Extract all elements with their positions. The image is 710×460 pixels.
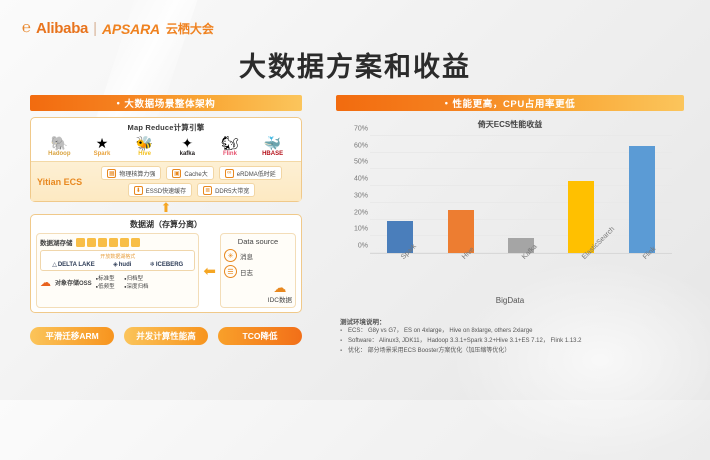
feature-label: eRDMA低时延 bbox=[237, 169, 276, 178]
bullet-icon: • bbox=[117, 98, 121, 108]
page-title: 大数据方案和收益 bbox=[0, 45, 710, 84]
chart-plot-area: 0%10%20%30%40%50%60%70% bbox=[370, 136, 672, 254]
feature-label: DDR5大带宽 bbox=[215, 186, 249, 195]
left-panel: • 大数据场景整体架构 Map Reduce计算引擎 🐘Hadoop★Spark… bbox=[30, 95, 302, 313]
benefit-tag-arm-migration[interactable]: 平滑迁移ARM bbox=[30, 327, 114, 345]
y-axis-tick: 70% bbox=[338, 126, 368, 133]
alibaba-mark-icon: ℮ bbox=[22, 20, 31, 37]
bar-column bbox=[373, 136, 427, 253]
format-glyph-icon: △ bbox=[52, 261, 57, 268]
data-source-icon: ✳ bbox=[224, 249, 237, 262]
format-logo-delta-lake: △DELTA LAKE bbox=[52, 261, 95, 268]
data-source-icon: ☰ bbox=[224, 265, 237, 278]
performance-chart: 倚天ECS性能收益 0%10%20%30%40%50%60%70% SparkH… bbox=[336, 119, 684, 319]
database-icon bbox=[98, 238, 107, 247]
hadoop-icon: 🐘 bbox=[51, 136, 68, 150]
engine-logo-kafka: ✦kafka bbox=[166, 136, 208, 157]
spark-icon: ★ bbox=[96, 136, 109, 150]
notes-title: 测试环境说明： bbox=[340, 316, 690, 326]
data-source-item: ✳消息 bbox=[224, 249, 292, 262]
data-lake-body: 数据湖存储 开放数据湖格式 △DELTA LAKE◈hudi❄ICEBERG bbox=[36, 233, 296, 308]
bar-column bbox=[615, 136, 669, 253]
note-item: Software： Alinux3, JDK11， Hadoop 3.3.1+S… bbox=[340, 338, 690, 346]
data-source-label: 消息 bbox=[240, 251, 253, 261]
feature-label: ESSD快速缓存 bbox=[146, 186, 186, 195]
open-format-title: 开放数据湖格式 bbox=[44, 253, 191, 260]
y-axis-tick: 30% bbox=[338, 192, 368, 199]
feature-icon: ⬇ bbox=[134, 186, 143, 195]
feature-icon: ≣ bbox=[203, 186, 212, 195]
oss-row: ☁ 对象存储OSS 标准型归档型低频型深度归档 bbox=[40, 274, 195, 290]
right-panel-header-label: 性能更高，CPU占用率更低 bbox=[452, 96, 575, 110]
engine-logo-label: kafka bbox=[180, 151, 195, 157]
right-panel-header: • 性能更高，CPU占用率更低 bbox=[336, 95, 684, 111]
open-format-row: △DELTA LAKE◈hudi❄ICEBERG bbox=[44, 261, 191, 268]
left-panel-header: • 大数据场景整体架构 bbox=[30, 95, 302, 111]
hbase-icon: 🐳 bbox=[264, 136, 281, 150]
data-lake-storage-panel: 数据湖存储 开放数据湖格式 △DELTA LAKE◈hudi❄ICEBERG bbox=[36, 233, 199, 308]
flink-icon: 🐿 bbox=[221, 136, 239, 150]
chart-x-labels: SparkHiveKafkaElasticSearchFlink bbox=[370, 254, 672, 300]
bar-elasticsearch[interactable] bbox=[568, 181, 594, 253]
storage-label: 数据湖存储 bbox=[40, 237, 73, 247]
hive-icon: 🐝 bbox=[136, 136, 153, 150]
open-format-box: 开放数据湖格式 △DELTA LAKE◈hudi❄ICEBERG bbox=[40, 250, 195, 271]
brand-name: Alibaba bbox=[36, 20, 88, 37]
format-label: ICEBERG bbox=[156, 262, 183, 268]
database-icons bbox=[76, 238, 140, 247]
idc-row: ☁ IDC数据 bbox=[224, 281, 292, 304]
database-icon bbox=[120, 238, 129, 247]
feature-label: Cache大 bbox=[184, 169, 207, 178]
notes-list: ECS： G8y vs G7， ES on 4xlarge， Hive on 8… bbox=[340, 328, 690, 355]
engine-logo-row: 🐘Hadoop★Spark🐝Hive✦kafka🐿Flink🐳HBASE bbox=[36, 133, 296, 161]
yitian-ecs-label: Yitian ECS bbox=[37, 177, 82, 187]
yitian-feature-row-2: ⬇ESSD快速缓存≣DDR5大带宽 bbox=[88, 183, 295, 197]
feature-icon: ▦ bbox=[107, 169, 116, 178]
storage-tier-grid: 标准型归档型低频型深度归档 bbox=[96, 274, 149, 290]
benefit-tag-concurrent-performance[interactable]: 并发计算性能高 bbox=[124, 327, 208, 345]
bullet-icon: • bbox=[445, 98, 449, 108]
left-panel-header-label: 大数据场景整体架构 bbox=[124, 96, 215, 110]
alibaba-brand-logo: ℮ Alibaba | APSARA 云栖大会 bbox=[22, 20, 214, 37]
note-item: ECS： G8y vs G7， ES on 4xlarge， Hive on 8… bbox=[340, 328, 690, 336]
data-source-items: ✳消息☰日志 bbox=[224, 249, 292, 281]
chart-title: 倚天ECS性能收益 bbox=[336, 119, 684, 130]
database-icon bbox=[76, 238, 85, 247]
chart-bars bbox=[370, 136, 672, 253]
right-panel: • 性能更高，CPU占用率更低 倚天ECS性能收益 0%10%20%30%40%… bbox=[336, 95, 684, 319]
format-label: hudi bbox=[119, 262, 132, 268]
engine-logo-label: Hadoop bbox=[48, 151, 70, 157]
engine-logo-spark: ★Spark bbox=[81, 136, 123, 157]
idc-cloud-icon: ☁ bbox=[273, 281, 286, 294]
engine-logo-label: HBASE bbox=[262, 151, 283, 157]
y-axis-tick: 50% bbox=[338, 159, 368, 166]
format-logo-hudi: ◈hudi bbox=[113, 261, 131, 268]
data-source-label: 日志 bbox=[240, 267, 253, 277]
data-source-title: Data source bbox=[238, 237, 278, 246]
compute-engine-box: Map Reduce计算引擎 🐘Hadoop★Spark🐝Hive✦kafka🐿… bbox=[30, 117, 302, 202]
bar-column bbox=[433, 136, 487, 253]
yitian-feature-chip: ▦物理核算力强 bbox=[101, 166, 161, 180]
benefit-tag-tco-reduction[interactable]: TCO降低 bbox=[218, 327, 302, 345]
brand-divider: | bbox=[93, 20, 97, 37]
yitian-feature-chip: ∞eRDMA低时延 bbox=[219, 166, 282, 180]
storage-tier: 深度归档 bbox=[124, 282, 148, 290]
engine-section-title: Map Reduce计算引擎 bbox=[36, 122, 296, 133]
yitian-feature-grid: ▦物理核算力强▣Cache大∞eRDMA低时延 ⬇ESSD快速缓存≣DDR5大带… bbox=[88, 166, 295, 197]
format-label: DELTA LAKE bbox=[58, 262, 95, 268]
storage-tier: 标准型 bbox=[96, 274, 120, 282]
storage-tier: 低频型 bbox=[96, 282, 120, 290]
data-lake-title: 数据湖（存算分离） bbox=[36, 219, 296, 230]
yitian-feature-row-1: ▦物理核算力强▣Cache大∞eRDMA低时延 bbox=[88, 166, 295, 180]
bar-flink[interactable] bbox=[629, 146, 655, 253]
y-axis-tick: 10% bbox=[338, 226, 368, 233]
apsara-chinese-name: 云栖大会 bbox=[166, 20, 214, 37]
database-icon bbox=[131, 238, 140, 247]
kafka-icon: ✦ bbox=[181, 136, 193, 150]
engine-logo-flink: 🐿Flink bbox=[209, 136, 251, 157]
yitian-ecs-row: Yitian ECS ▦物理核算力强▣Cache大∞eRDMA低时延 ⬇ESSD… bbox=[31, 161, 301, 201]
yitian-feature-chip: ▣Cache大 bbox=[166, 166, 213, 180]
bar-column bbox=[494, 136, 548, 253]
y-axis-tick: 0% bbox=[338, 243, 368, 250]
benefit-tag-row: 平滑迁移ARM 并发计算性能高 TCO降低 bbox=[30, 327, 302, 345]
database-icon bbox=[87, 238, 96, 247]
y-axis-tick: 20% bbox=[338, 209, 368, 216]
feature-label: 物理核算力强 bbox=[119, 169, 155, 178]
data-source-panel: Data source ✳消息☰日志 ☁ IDC数据 bbox=[220, 233, 296, 308]
engine-logo-label: Flink bbox=[223, 151, 237, 157]
y-axis-tick: 40% bbox=[338, 176, 368, 183]
yitian-feature-chip: ≣DDR5大带宽 bbox=[197, 183, 255, 197]
format-logo-iceberg: ❄ICEBERG bbox=[150, 261, 183, 268]
apsara-wordmark: APSARA bbox=[102, 21, 160, 37]
engine-logo-label: Spark bbox=[94, 151, 111, 157]
format-glyph-icon: ◈ bbox=[113, 261, 118, 268]
y-axis-tick: 60% bbox=[338, 142, 368, 149]
left-arrow-icon: ⬅ bbox=[203, 262, 216, 280]
engine-logo-hadoop: 🐘Hadoop bbox=[38, 136, 80, 157]
idc-data: ☁ IDC数据 bbox=[268, 281, 292, 304]
feature-icon: ▣ bbox=[172, 169, 181, 178]
storage-header-row: 数据湖存储 bbox=[40, 237, 195, 247]
note-item: 优化： 部分场景采用ECS Booster方案优化（加压缩等优化） bbox=[340, 348, 690, 356]
oss-cloud-icon: ☁ bbox=[40, 276, 51, 289]
oss-label: 对象存储OSS bbox=[55, 278, 92, 287]
upward-arrow-icon: ⬆ bbox=[30, 203, 302, 212]
engine-logo-label: Hive bbox=[138, 151, 151, 157]
data-lake-box: 数据湖（存算分离） 数据湖存储 开放数据湖格式 △DELTA bbox=[30, 214, 302, 313]
yitian-feature-chip: ⬇ESSD快速缓存 bbox=[128, 183, 192, 197]
feature-icon: ∞ bbox=[225, 169, 234, 178]
format-glyph-icon: ❄ bbox=[150, 261, 155, 268]
engine-logo-hive: 🐝Hive bbox=[124, 136, 166, 157]
storage-tier: 归档型 bbox=[124, 274, 148, 282]
database-icon bbox=[109, 238, 118, 247]
data-source-item: ☰日志 bbox=[224, 265, 292, 278]
engine-logo-hbase: 🐳HBASE bbox=[252, 136, 294, 157]
idc-label: IDC数据 bbox=[268, 294, 292, 304]
test-environment-notes: 测试环境说明： ECS： G8y vs G7， ES on 4xlarge， H… bbox=[340, 316, 690, 357]
